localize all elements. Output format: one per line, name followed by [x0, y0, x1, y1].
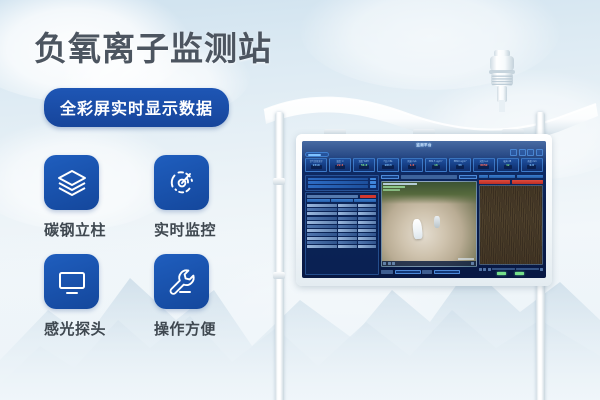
stat-row	[308, 185, 376, 188]
metric-card: PM2.5 ug/m³18	[425, 158, 447, 172]
metric-card: PM10 ug/m³34	[449, 158, 471, 172]
data-table[interactable]	[305, 192, 379, 275]
metric-strip: 空气负氧离子2316温度 ℃22.4湿度 %RH56.8气压 hPa1013风速…	[305, 158, 543, 172]
feature-item-0[interactable]: 碳钢立柱	[44, 155, 140, 240]
metric-card: 风速 m/s1.6	[401, 158, 423, 172]
dashboard-toolbar[interactable]	[510, 149, 543, 156]
monitor-screen-icon	[44, 254, 99, 309]
feature-label: 碳钢立柱	[44, 219, 140, 240]
metric-value: 2316	[311, 165, 322, 169]
toolbar-icon[interactable]	[536, 149, 543, 156]
table-row[interactable]	[307, 204, 376, 207]
pause-icon[interactable]	[388, 262, 391, 265]
promo-content: 负氧离子监测站 全彩屏实时显示数据 碳钢立柱	[0, 0, 300, 400]
video-controls[interactable]	[382, 261, 476, 266]
metric-card: 噪声 dB42	[497, 158, 519, 172]
toolbar-icon[interactable]	[519, 149, 526, 156]
metric-value: 8650	[478, 165, 489, 169]
metric-value: 56.8	[359, 165, 369, 169]
dashboard-logo	[305, 152, 329, 157]
feature-grid: 碳钢立柱 实时监控 感光探头	[44, 155, 250, 339]
alert-buttons[interactable]	[479, 180, 543, 184]
dashboard: 监测平台 空气负氧离子2316温度 ℃22.4湿度 %RH56.8气压 hPa1…	[302, 141, 546, 278]
alert-panel	[479, 175, 543, 275]
toolbar-icon[interactable]	[510, 149, 517, 156]
metric-card: 雨量 mm0.0	[521, 158, 543, 172]
metric-card: 温度 ℃22.4	[329, 158, 351, 172]
alert-button[interactable]	[512, 180, 543, 184]
camera-select[interactable]	[381, 175, 399, 179]
play-icon[interactable]	[383, 262, 386, 265]
alert-footer	[479, 267, 543, 275]
alert-button[interactable]	[479, 180, 510, 184]
table-row[interactable]	[307, 225, 376, 228]
video-subject	[412, 218, 423, 239]
metric-value: 42	[504, 165, 512, 169]
dashboard-panels	[305, 175, 543, 275]
mount-tab	[413, 129, 435, 134]
feature-item-1[interactable]: 实时监控	[154, 155, 250, 240]
monitoring-station: 监测平台 空气负氧离子2316温度 ℃22.4湿度 %RH56.8气压 hPa1…	[258, 50, 600, 400]
table-row[interactable]	[307, 229, 376, 232]
metric-value: 1013	[382, 165, 393, 169]
led-display-screen[interactable]: 监测平台 空气负氧离子2316温度 ℃22.4湿度 %RH56.8气压 hPa1…	[296, 134, 552, 286]
metric-card: 气压 hPa1013	[377, 158, 399, 172]
snapshot-icon[interactable]	[392, 262, 395, 265]
metric-value: 34	[456, 165, 464, 169]
feature-item-2[interactable]: 感光探头	[44, 254, 140, 339]
wrench-icon	[154, 254, 209, 309]
stat-row	[308, 181, 376, 184]
left-panel	[305, 175, 379, 275]
mount-tab	[502, 129, 524, 134]
subtitle-badge: 全彩屏实时显示数据	[44, 88, 229, 127]
metric-card: 空气负氧离子2316	[305, 158, 327, 172]
metric-value: 1.6	[408, 165, 417, 169]
table-header	[307, 199, 376, 202]
layers-icon	[44, 155, 99, 210]
readouts	[479, 272, 543, 275]
export-button[interactable]	[360, 195, 376, 198]
video-overlay-text	[383, 183, 417, 191]
mount-tab	[324, 129, 346, 134]
metric-card: 光照 Lux8650	[473, 158, 495, 172]
page-title: 负氧离子监测站	[34, 22, 272, 70]
dashboard-title: 监测平台	[416, 144, 432, 148]
video-timestamp	[458, 258, 474, 260]
feature-label: 实时监控	[154, 219, 250, 240]
metric-card: 湿度 %RH56.8	[353, 158, 375, 172]
video-footer-tools[interactable]	[381, 269, 477, 275]
channel-select[interactable]	[434, 270, 460, 274]
alert-header	[479, 175, 543, 178]
feature-label: 感光探头	[44, 318, 140, 339]
metric-value: 0.0	[527, 165, 536, 169]
table-toolbar[interactable]	[307, 195, 376, 198]
table-row[interactable]	[307, 233, 376, 236]
table-row[interactable]	[307, 208, 376, 211]
feature-label: 操作方便	[154, 318, 250, 339]
fullscreen-icon[interactable]	[471, 262, 474, 265]
stat-row	[308, 178, 376, 181]
table-row[interactable]	[307, 245, 376, 248]
video-panel	[381, 175, 477, 275]
alert-thumbnail[interactable]	[479, 185, 543, 265]
table-row[interactable]	[307, 212, 376, 215]
feature-item-3[interactable]: 操作方便	[154, 254, 250, 339]
summary-stats	[305, 175, 379, 191]
table-row[interactable]	[307, 241, 376, 244]
video-feed[interactable]	[381, 181, 477, 268]
alert-footer-row[interactable]	[479, 268, 543, 271]
radar-monitor-icon	[154, 155, 209, 210]
video-toolbar[interactable]	[381, 175, 477, 179]
table-row[interactable]	[307, 221, 376, 224]
date-select[interactable]	[395, 270, 421, 274]
toolbar-icon[interactable]	[527, 149, 534, 156]
video-subject-secondary	[434, 216, 440, 228]
view-select[interactable]	[459, 175, 477, 179]
table-row[interactable]	[307, 217, 376, 220]
metric-value: 18	[432, 165, 440, 169]
metric-value: 22.4	[335, 165, 345, 169]
table-row[interactable]	[307, 237, 376, 240]
